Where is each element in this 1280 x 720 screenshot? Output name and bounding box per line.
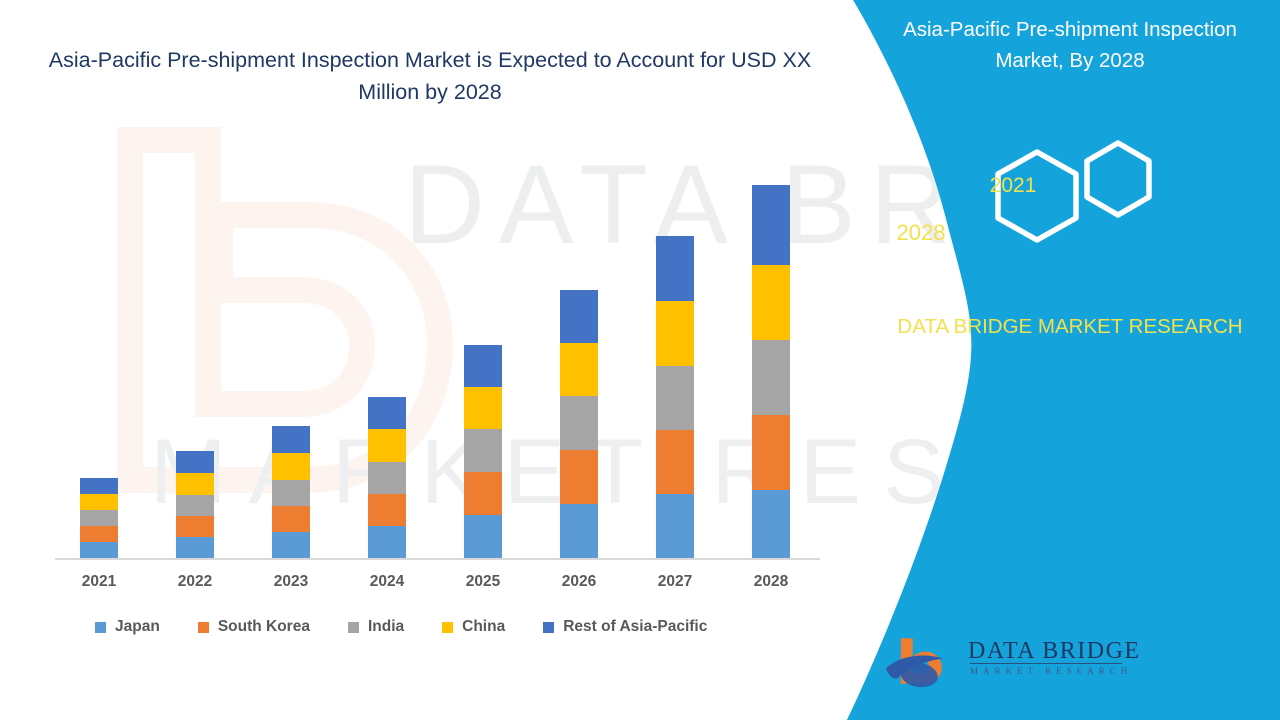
bar-segment [656, 494, 694, 558]
bar-segment [176, 516, 214, 537]
legend-item[interactable]: Rest of Asia-Pacific [543, 618, 707, 636]
bar-segment [368, 397, 406, 429]
bar-segment [368, 526, 406, 558]
legend-swatch-icon [198, 622, 209, 633]
brand-name-text: DATA BRIDGE MARKET RESEARCH [890, 312, 1250, 341]
bar-column [464, 345, 502, 558]
bar-column [272, 426, 310, 558]
legend-label: China [462, 618, 505, 636]
x-axis-line [55, 558, 820, 560]
legend-label: India [368, 618, 404, 636]
footer-logo-subtitle: MARKET RESEARCH [970, 666, 1132, 676]
bar-segment [464, 387, 502, 429]
x-axis-label: 2024 [347, 573, 427, 591]
legend-label: Japan [115, 618, 160, 636]
bar-segment [272, 426, 310, 453]
bar-segment [752, 185, 790, 265]
bar-segment [176, 495, 214, 516]
bar-segment [464, 429, 502, 472]
brand-panel-title: Asia-Pacific Pre-shipment Inspection Mar… [868, 14, 1272, 76]
bar-column [560, 290, 598, 558]
x-axis-label: 2028 [731, 573, 811, 591]
legend-swatch-icon [95, 622, 106, 633]
bar-column [176, 451, 214, 558]
bar-segment [752, 415, 790, 490]
brand-panel: Asia-Pacific Pre-shipment Inspection Mar… [860, 0, 1280, 720]
legend-swatch-icon [348, 622, 359, 633]
data-bridge-mark-icon [884, 632, 960, 690]
x-axis-label: 2023 [251, 573, 331, 591]
bar-segment [176, 537, 214, 558]
bar-segment [752, 340, 790, 415]
bar-segment [560, 290, 598, 343]
legend-swatch-icon [543, 622, 554, 633]
bar-column [656, 236, 694, 558]
bar-segment [656, 430, 694, 494]
bar-segment [176, 473, 214, 495]
bar-segment [272, 480, 310, 506]
hexagon-label-left: 2028 [866, 220, 976, 246]
bar-segment [752, 265, 790, 340]
page-title: Asia-Pacific Pre-shipment Inspection Mar… [40, 44, 820, 108]
bar-segment [464, 345, 502, 387]
legend-label: Rest of Asia-Pacific [563, 618, 707, 636]
legend-item[interactable]: South Korea [198, 618, 310, 636]
bar-column [80, 478, 118, 558]
bar-segment [80, 542, 118, 558]
bar-segment [368, 462, 406, 494]
hexagon-pair-icon [975, 140, 1185, 275]
bar-segment [560, 396, 598, 450]
bar-segment [272, 453, 310, 480]
bar-segment [368, 429, 406, 462]
bar-segment [80, 478, 118, 494]
bar-segment [656, 236, 694, 301]
bar-segment [176, 451, 214, 473]
legend-swatch-icon [442, 622, 453, 633]
footer-logo-divider [970, 663, 1122, 664]
bar-segment [80, 510, 118, 526]
x-axis-label: 2021 [59, 573, 139, 591]
legend-item[interactable]: Japan [95, 618, 160, 636]
x-axis-label: 2025 [443, 573, 523, 591]
legend-label: South Korea [218, 618, 310, 636]
bar-segment [80, 494, 118, 510]
bar-segment [656, 301, 694, 366]
bar-segment [560, 504, 598, 558]
chart-legend: JapanSouth KoreaIndiaChinaRest of Asia-P… [95, 618, 745, 636]
x-axis-label: 2022 [155, 573, 235, 591]
infographic-canvas: DATA BRIDGE MARKET RESEARCH Asia-Pacific… [0, 0, 1280, 720]
legend-item[interactable]: China [442, 618, 505, 636]
chart-plot-area [55, 158, 830, 558]
bar-segment [272, 532, 310, 558]
bar-segment [560, 450, 598, 504]
bar-segment [656, 366, 694, 430]
footer-logo: DATA BRIDGE MARKET RESEARCH [884, 630, 1134, 705]
bar-segment [560, 343, 598, 396]
x-axis-label: 2026 [539, 573, 619, 591]
bar-segment [272, 506, 310, 532]
bar-column [752, 185, 790, 558]
legend-item[interactable]: India [348, 618, 404, 636]
bar-segment [464, 515, 502, 558]
bar-segment [368, 494, 406, 526]
x-axis-label: 2027 [635, 573, 715, 591]
hexagon-label-right: 2021 [963, 174, 1063, 198]
bar-column [368, 397, 406, 558]
bar-segment [464, 472, 502, 515]
bar-segment [80, 526, 118, 542]
footer-logo-name: DATA BRIDGE [968, 638, 1141, 665]
bar-segment [752, 490, 790, 558]
